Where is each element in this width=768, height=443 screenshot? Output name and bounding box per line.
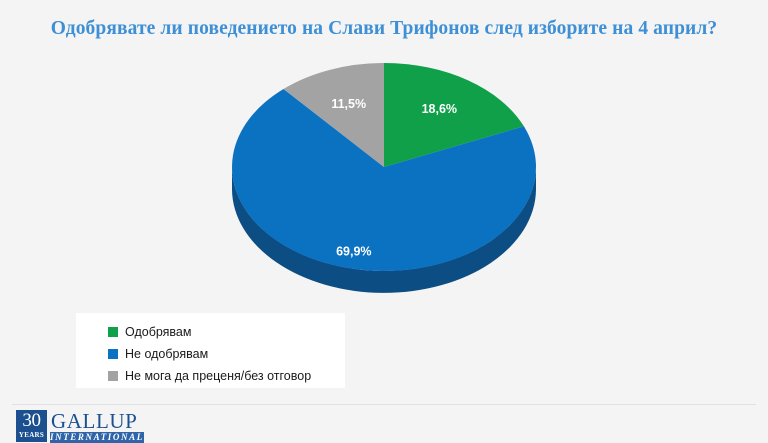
pie-slice-label-1: 18,6% <box>422 102 457 116</box>
legend-label-approve: Одобрявам <box>125 326 191 339</box>
legend-label-noanswer: Не мога да преценя/без отговор <box>125 370 311 383</box>
logo-30-years-badge: 30 YEARS <box>16 410 47 442</box>
pie-chart: 18,6%69,9%11,5% <box>231 62 537 297</box>
legend-swatch-green <box>108 327 118 337</box>
footer-divider <box>12 404 756 405</box>
legend-swatch-blue <box>108 349 118 359</box>
legend-swatch-gray <box>108 371 118 381</box>
pie-slices <box>232 63 536 271</box>
logo-years-number: 30 <box>22 410 40 431</box>
logo-wordmark: GALLUP INTERNATIONAL <box>50 410 144 442</box>
pie-slice-label-3: 11,5% <box>331 97 366 111</box>
legend: Одобрявам Не одобрявам Не мога да прецен… <box>76 313 345 388</box>
legend-label-disapprove: Не одобрявам <box>125 348 208 361</box>
logo-subtitle-text: INTERNATIONAL <box>50 432 144 443</box>
chart-canvas: Одобрявате ли поведението на Слави Трифо… <box>0 0 768 443</box>
legend-item-noanswer[interactable]: Не мога да преценя/без отговор <box>108 366 345 386</box>
page-title: Одобрявате ли поведението на Слави Трифо… <box>0 18 768 40</box>
pie-chart-svg: 18,6%69,9%11,5% <box>231 62 537 297</box>
legend-item-approve[interactable]: Одобрявам <box>108 322 345 342</box>
logo-brand-text: GALLUP <box>50 410 144 431</box>
pie-slice-label-2: 69,9% <box>336 244 371 258</box>
logo-years-word: YEARS <box>19 431 44 440</box>
legend-item-disapprove[interactable]: Не одобрявам <box>108 344 345 364</box>
gallup-logo: 30 YEARS GALLUP INTERNATIONAL <box>16 410 144 442</box>
